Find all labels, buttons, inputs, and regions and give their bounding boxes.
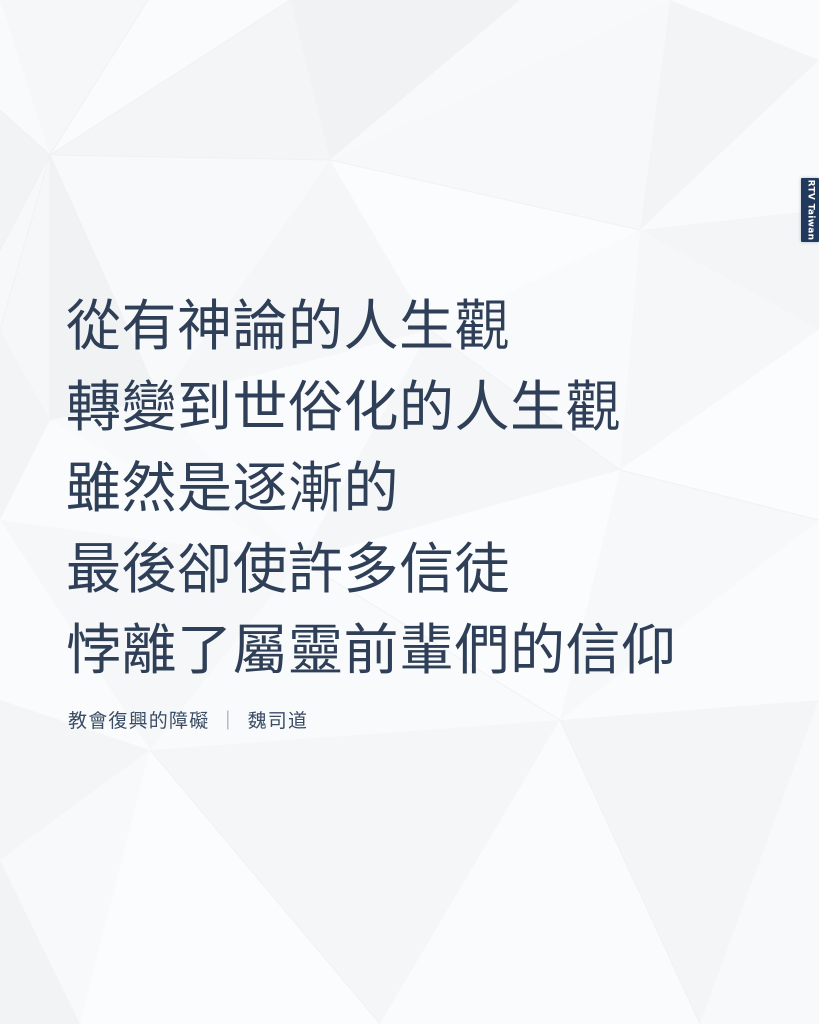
quote-line-3: 雖然是逐漸的 [66, 448, 766, 529]
attribution-source-title: 教會復興的障礙 [68, 706, 209, 733]
quote-text-block: 從有神論的人生觀 轉變到世俗化的人生觀 雖然是逐漸的 最後卻使許多信徒 悖離了屬… [66, 286, 766, 691]
attribution: 教會復興的障礙 ｜ 魏司道 [68, 706, 308, 733]
brand-badge[interactable]: RTV Taiwan [801, 178, 819, 242]
quote-card: 從有神論的人生觀 轉變到世俗化的人生觀 雖然是逐漸的 最後卻使許多信徒 悖離了屬… [0, 0, 819, 1024]
quote-line-1: 從有神論的人生觀 [66, 286, 766, 367]
attribution-author: 魏司道 [248, 706, 309, 733]
attribution-separator: ｜ [218, 706, 238, 733]
quote-line-4: 最後卻使許多信徒 [66, 529, 766, 610]
quote-line-5: 悖離了屬靈前輩們的信仰 [66, 610, 766, 691]
quote-line-2: 轉變到世俗化的人生觀 [66, 367, 766, 448]
brand-badge-label: RTV Taiwan [805, 180, 815, 241]
